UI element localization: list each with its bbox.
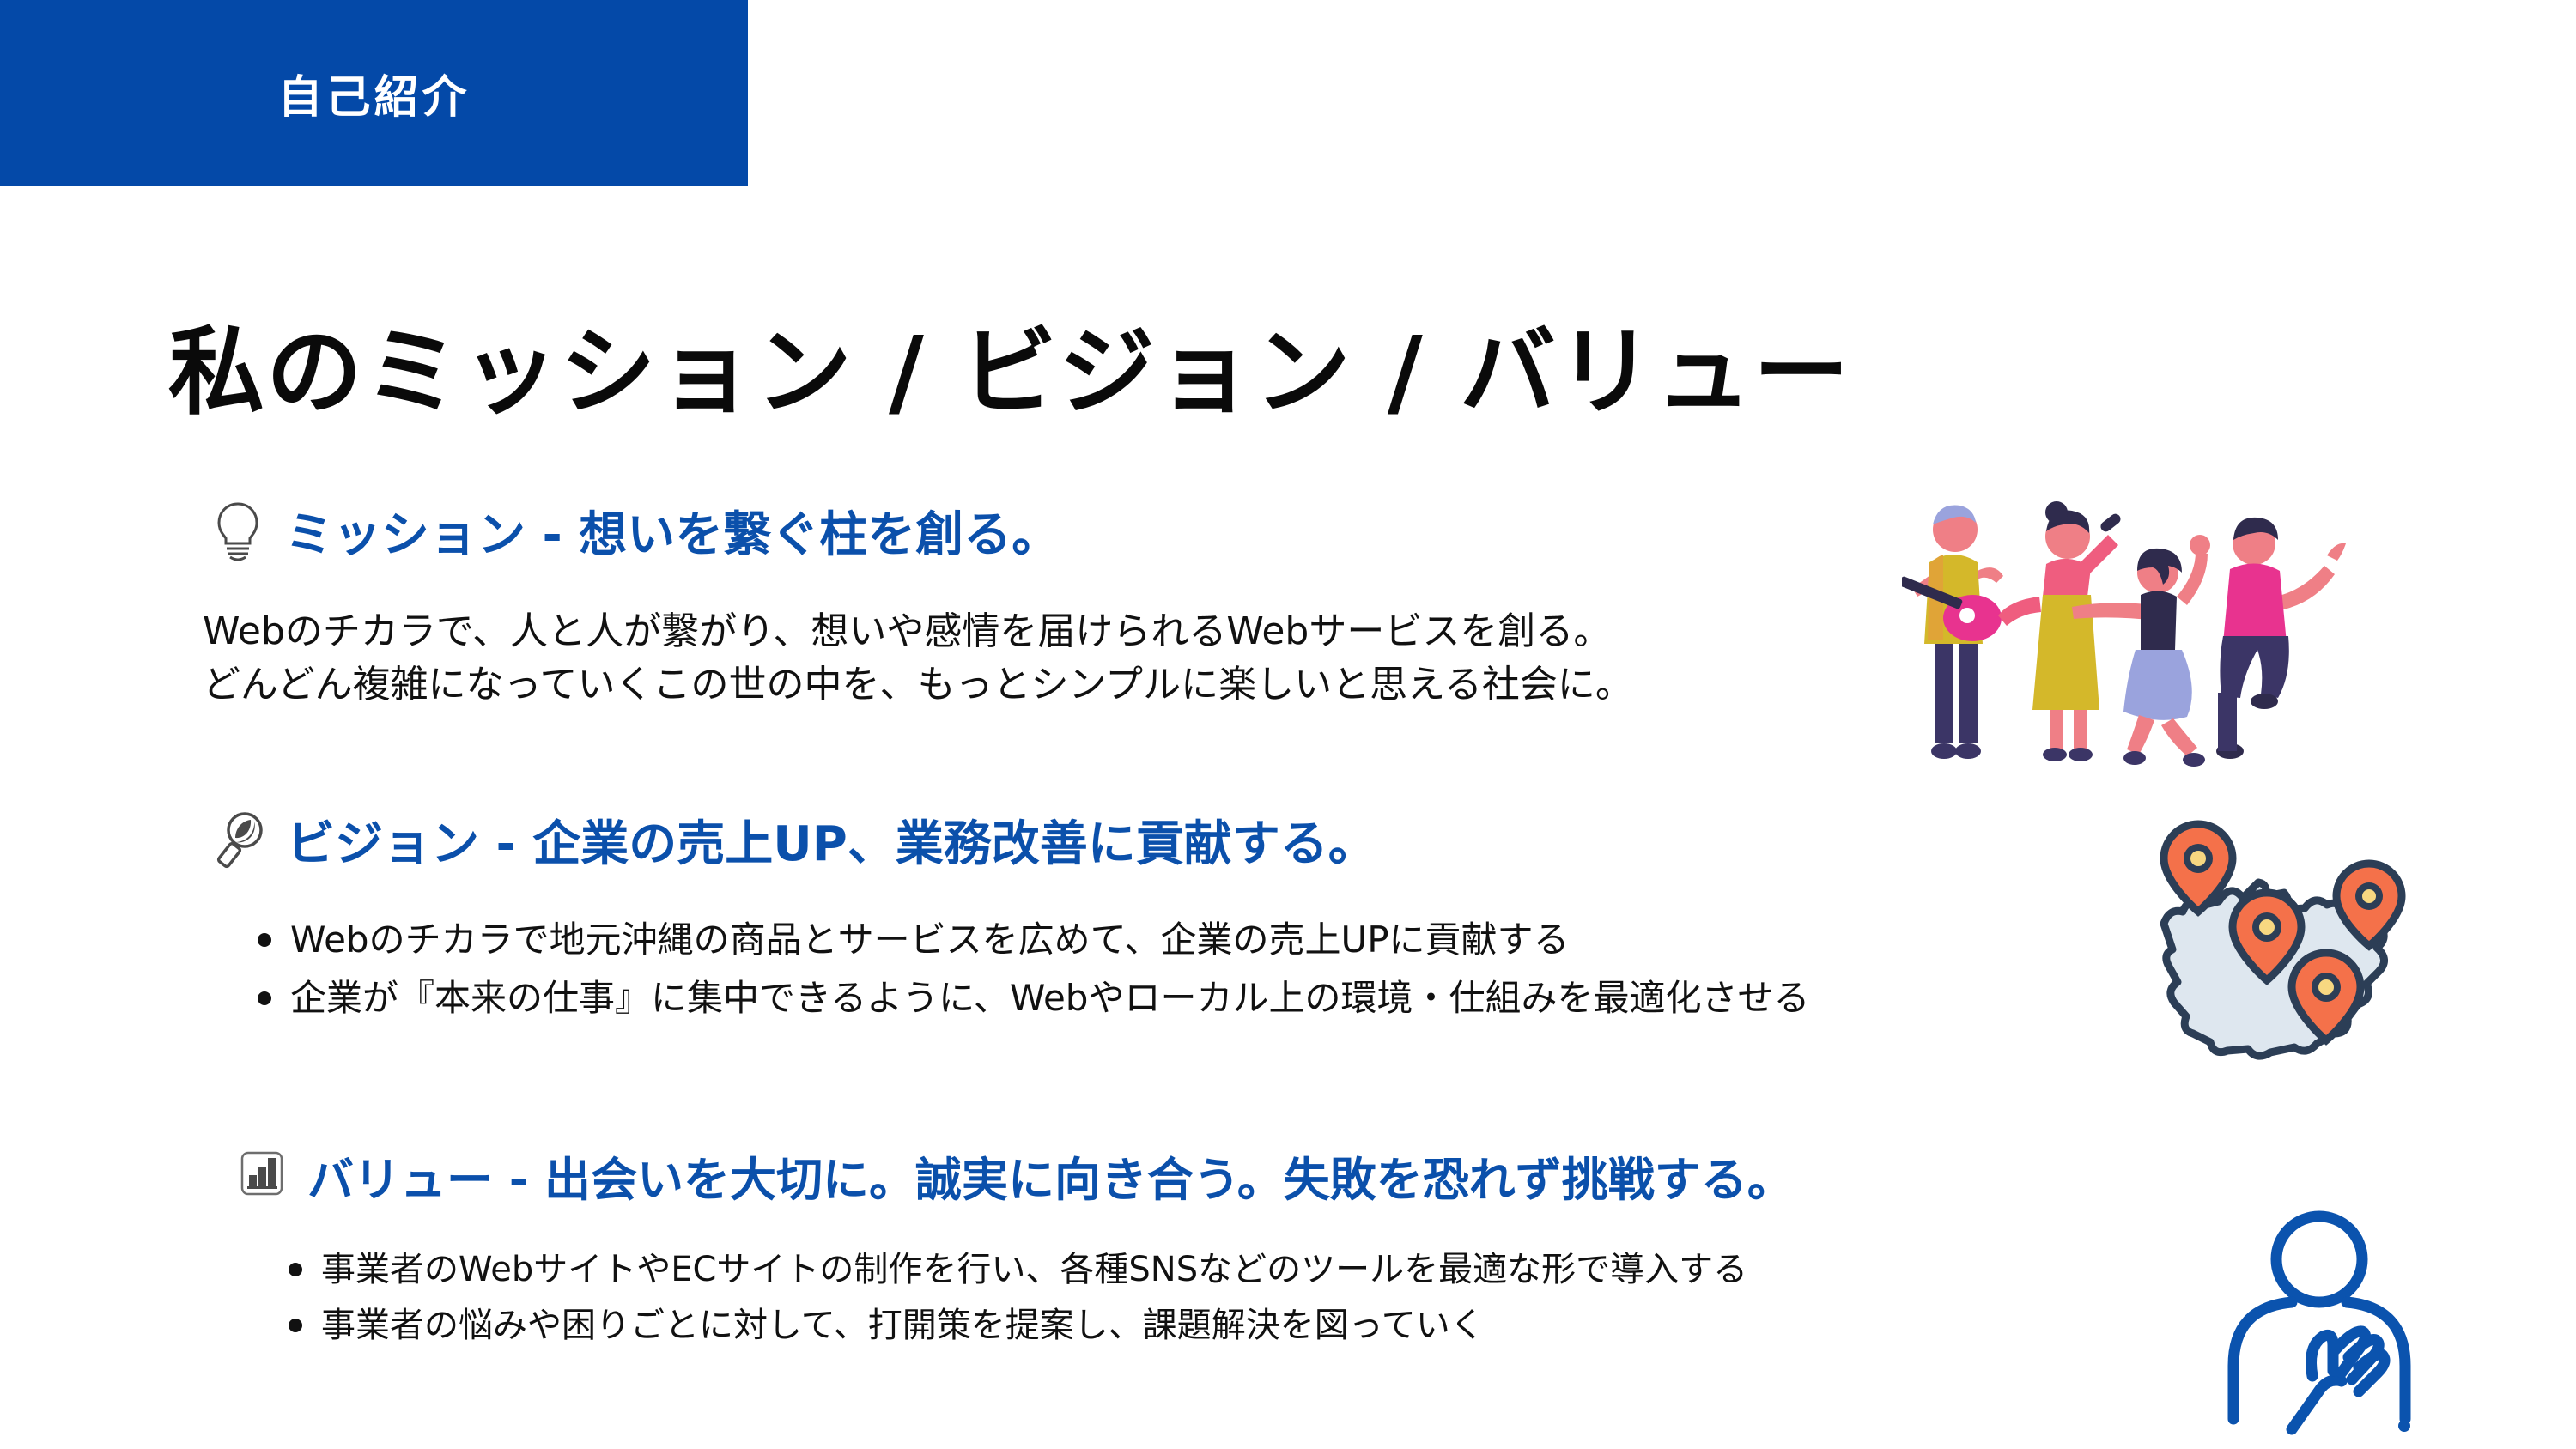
list-item: Webのチカラで地元沖縄の商品とサービスを広めて、企業の売上UPに貢献する [251, 911, 1809, 969]
value-heading-row: バリュー - 出会いを大切に。誠実に向き合う。失敗を恐れず挑戦する。 [239, 1142, 1794, 1210]
vision-heading-row: ビジョン - 企業の売上UP、業務改善に貢献する。 [216, 805, 1809, 875]
mission-line-1: Webのチカラで、人と人が繋がり、想いや感情を届けられるWebサービスを創る。 [203, 605, 1633, 658]
vision-heading-text: ビジョン - 企業の売上UP、業務改善に貢献する。 [287, 805, 1376, 875]
section-badge-label: 自己紹介 [277, 61, 470, 125]
vision-bullet-list: Webのチカラで地元沖縄の商品とサービスを広めて、企業の売上UPに貢献する 企業… [251, 911, 1809, 1028]
slide: 自己紹介 私のミッション / ビジョン / バリュー ミッション - 想いを繋ぐ… [0, 0, 2576, 1449]
mission-body: Webのチカラで、人と人が繋がり、想いや感情を届けられるWebサービスを創る。 … [203, 605, 1633, 712]
value-bullet-list: 事業者のWebサイトやECサイトの制作を行い、各種SNSなどのツールを最適な形で… [282, 1242, 1794, 1354]
list-item: 企業が『本来の仕事』に集中できるように、Webやローカル上の環境・仕組みを最適化… [251, 969, 1809, 1028]
value-section: バリュー - 出会いを大切に。誠実に向き合う。失敗を恐れず挑戦する。 事業者のW… [239, 1142, 1794, 1354]
map-with-pins-illustration [2128, 814, 2424, 1071]
list-item: 事業者のWebサイトやECサイトの制作を行い、各種SNSなどのツールを最適な形で… [282, 1242, 1794, 1298]
person-dot [2398, 1420, 2410, 1432]
mission-heading-row: ミッション - 想いを繋ぐ柱を創る。 [213, 496, 1633, 566]
lightbulb-icon [213, 500, 263, 562]
mission-section: ミッション - 想いを繋ぐ柱を創る。 Webのチカラで、人と人が繋がり、想いや感… [213, 496, 1633, 712]
mission-heading-text: ミッション - 想いを繋ぐ柱を創る。 [285, 496, 1060, 566]
mission-line-2: どんどん複雑になっていくこの世の中を、もっとシンプルに楽しいと思える社会に。 [203, 658, 1633, 712]
person-cheering-man [2216, 518, 2346, 759]
person-guitarist [1902, 505, 2003, 759]
bar-chart-icon [239, 1151, 285, 1201]
value-heading-text: バリュー - 出会いを大切に。誠実に向き合う。失敗を恐れず挑戦する。 [307, 1142, 1794, 1210]
person-singer [1998, 501, 2123, 761]
section-badge-banner: 自己紹介 [0, 0, 748, 186]
page-title: 私のミッション / ビジョン / バリュー [168, 294, 1851, 433]
celebrating-people-illustration [1902, 468, 2391, 773]
list-item: 事業者の悩みや困りごとに対して、打開策を提案し、課題解決を図っていく [282, 1298, 1794, 1354]
vision-section: ビジョン - 企業の売上UP、業務改善に貢献する。 Webのチカラで地元沖縄の商… [216, 805, 1809, 1028]
hand-on-chest-person-illustration [2218, 1197, 2476, 1442]
magnifying-glass-icon [216, 809, 264, 871]
